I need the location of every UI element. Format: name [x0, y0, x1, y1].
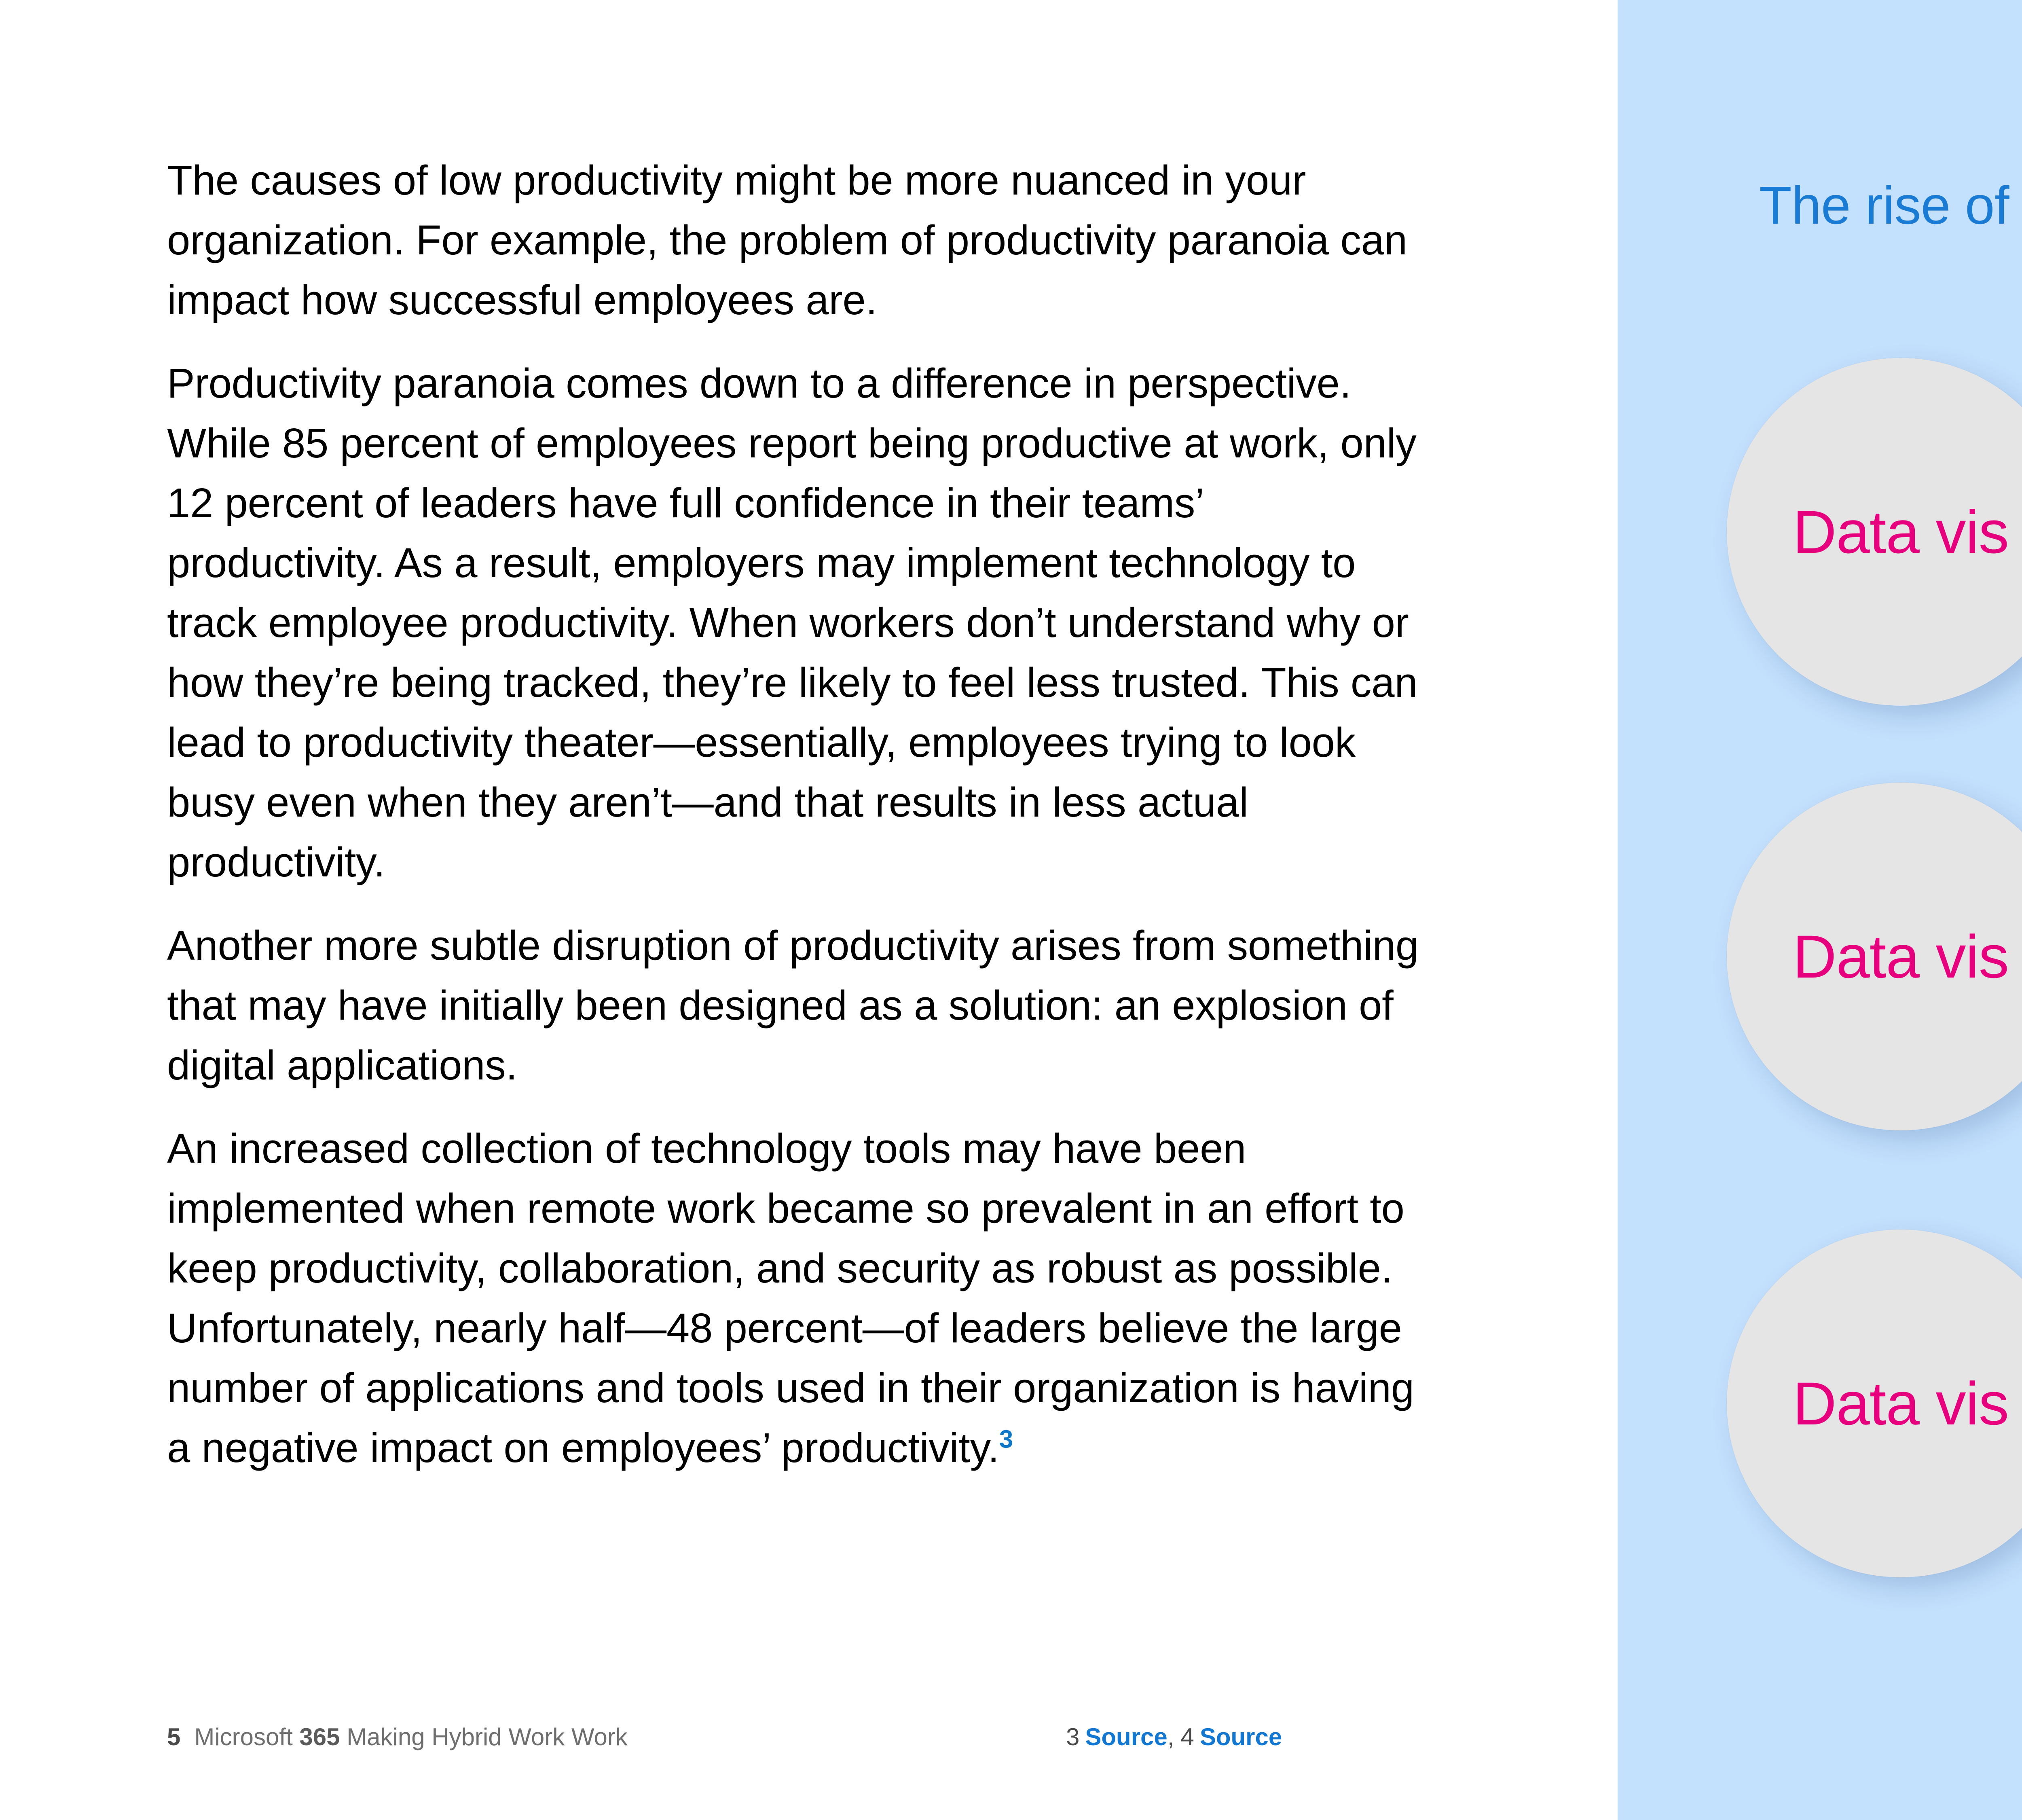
footer-sources: 3Source,4Source: [1066, 1723, 1282, 1751]
source-number-4: 4: [1180, 1723, 1194, 1751]
page-footer: 5 Microsoft 365 Making Hybrid Work Work …: [0, 1723, 1618, 1820]
footer-brand-prefix: Microsoft: [194, 1723, 299, 1750]
data-vis-label-3: Data vis: [1793, 1373, 2009, 1434]
paragraph-1: The causes of low productivity might be …: [167, 150, 1423, 330]
footnote-ref-3[interactable]: 3: [999, 1426, 1013, 1454]
source-link-4[interactable]: Source: [1200, 1723, 1282, 1751]
stat-item-2: Data vis 66 percent say that getting an …: [1618, 779, 2022, 1134]
stat-item-3: Data vis 48 percent say productivity has…: [1618, 1225, 2022, 1581]
body-copy: The causes of low productivity might be …: [167, 150, 1423, 1478]
data-vis-label-1: Data vis: [1793, 502, 2009, 562]
data-vis-placeholder-3: Data vis: [1727, 1230, 2022, 1577]
source-number-3: 3: [1066, 1723, 1079, 1751]
footer-brand-365: 365: [299, 1723, 340, 1750]
footer-brand-line: Microsoft 365 Making Hybrid Work Work: [194, 1723, 627, 1751]
paragraph-4: An increased collection of technology to…: [167, 1119, 1423, 1478]
page-number: 5: [167, 1723, 180, 1751]
paragraph-4-text: An increased collection of technology to…: [167, 1125, 1414, 1471]
stats-list: Data vis 78 percent of executives say wo…: [1618, 0, 2022, 1820]
stat-item-1: Data vis 78 percent of executives say wo…: [1618, 354, 2022, 710]
data-vis-placeholder-1: Data vis: [1727, 358, 2022, 706]
paragraph-2: Productivity paranoia comes down to a di…: [167, 353, 1423, 892]
data-vis-label-2: Data vis: [1793, 926, 2009, 987]
document-page: The causes of low productivity might be …: [0, 0, 2022, 1820]
source-link-3[interactable]: Source: [1085, 1723, 1167, 1751]
left-text-column: The causes of low productivity might be …: [0, 0, 1618, 1820]
footer-left-group: 5 Microsoft 365 Making Hybrid Work Work: [167, 1723, 628, 1751]
right-blue-panel: The rise of digital tools4 Data vis 78 p…: [1618, 0, 2022, 1820]
source-separator: ,: [1168, 1723, 1174, 1751]
footer-brand-suffix: Making Hybrid Work Work: [340, 1723, 628, 1750]
paragraph-3: Another more subtle disruption of produc…: [167, 916, 1423, 1095]
data-vis-placeholder-2: Data vis: [1727, 783, 2022, 1130]
